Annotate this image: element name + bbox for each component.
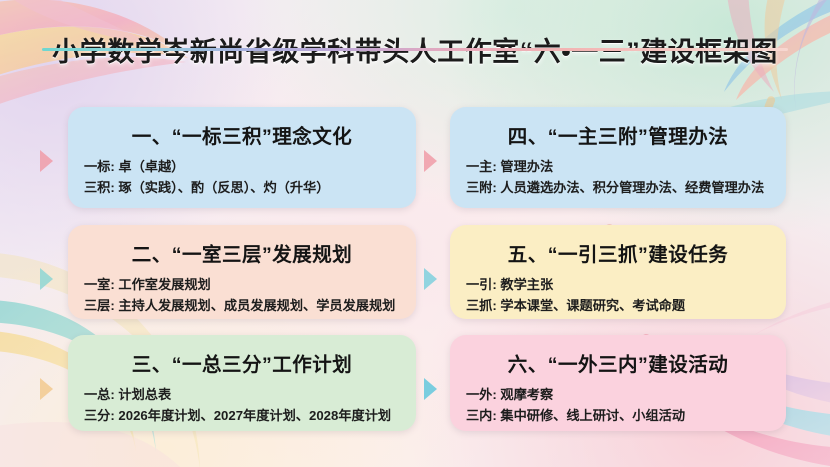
chevron-icon-card-3 <box>40 378 53 400</box>
chevron-icon-card-6 <box>424 378 437 400</box>
chevron-icon-card-5 <box>424 268 437 290</box>
card-4-line-2: 三附: 人员遴选办法、积分管理办法、经费管理办法 <box>466 177 770 198</box>
slide-canvas: 小学数学岑新尚省级学科带头人工作室“六•一三”建设框架图 一、“一标三积”理念文… <box>0 0 830 467</box>
card-5[interactable]: 五、“一引三抓”建设任务 一引: 教学主张 三抓: 学本课堂、课题研究、考试命题 <box>450 225 786 319</box>
card-3-heading: 三、“一总三分”工作计划 <box>84 348 400 377</box>
card-6-line-2: 三内: 集中研修、线上研讨、小组活动 <box>466 405 770 426</box>
card-3-line-1: 一总: 计划总表 <box>84 384 400 405</box>
card-3[interactable]: 三、“一总三分”工作计划 一总: 计划总表 三分: 2026年度计划、2027年… <box>68 335 416 431</box>
chevron-icon-card-1 <box>40 150 53 172</box>
card-1[interactable]: 一、“一标三积”理念文化 一标: 卓（卓越） 三积: 琢（实践）、酌（反思）、灼… <box>68 107 416 208</box>
card-2[interactable]: 二、“一室三层”发展规划 一室: 工作室发展规划 三层: 主持人发展规划、成员发… <box>68 225 416 319</box>
card-2-line-2: 三层: 主持人发展规划、成员发展规划、学员发展规划 <box>84 295 400 316</box>
card-6-heading: 六、“一外三内”建设活动 <box>466 348 770 377</box>
card-3-line-2: 三分: 2026年度计划、2027年度计划、2028年度计划 <box>84 405 400 426</box>
card-4-heading: 四、“一主三附”管理办法 <box>466 120 770 149</box>
card-5-line-2: 三抓: 学本课堂、课题研究、考试命题 <box>466 295 770 316</box>
card-1-line-1: 一标: 卓（卓越） <box>84 156 400 177</box>
title-underline <box>42 48 788 51</box>
card-1-heading: 一、“一标三积”理念文化 <box>84 120 400 149</box>
card-4[interactable]: 四、“一主三附”管理办法 一主: 管理办法 三附: 人员遴选办法、积分管理办法、… <box>450 107 786 208</box>
card-1-line-2: 三积: 琢（实践）、酌（反思）、灼（升华） <box>84 177 400 198</box>
card-6[interactable]: 六、“一外三内”建设活动 一外: 观摩考察 三内: 集中研修、线上研讨、小组活动 <box>450 335 786 431</box>
chevron-icon-card-4 <box>424 150 437 172</box>
card-4-line-1: 一主: 管理办法 <box>466 156 770 177</box>
chevron-icon-card-2 <box>40 268 53 290</box>
card-2-line-1: 一室: 工作室发展规划 <box>84 274 400 295</box>
card-5-line-1: 一引: 教学主张 <box>466 274 770 295</box>
card-2-heading: 二、“一室三层”发展规划 <box>84 238 400 267</box>
card-6-line-1: 一外: 观摩考察 <box>466 384 770 405</box>
card-5-heading: 五、“一引三抓”建设任务 <box>466 238 770 267</box>
